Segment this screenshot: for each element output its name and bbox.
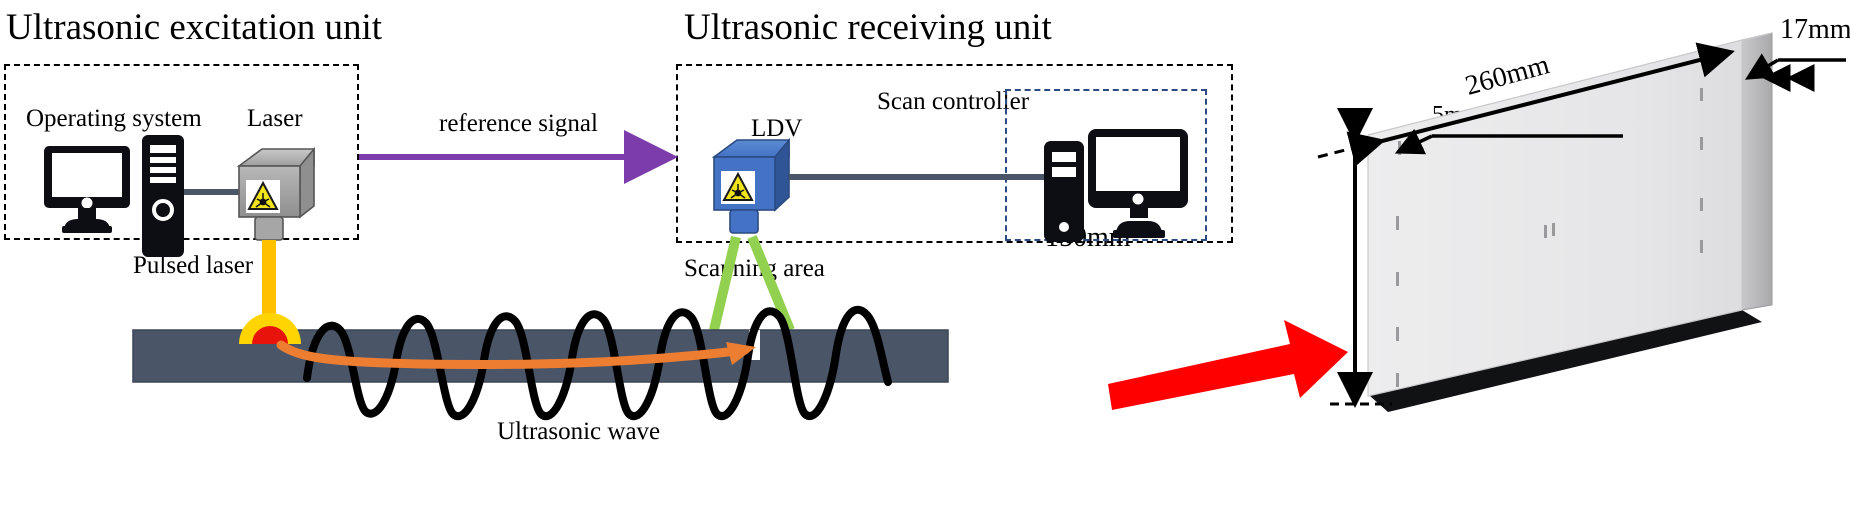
monitor-icon xyxy=(1088,129,1188,238)
ldv-head-icon xyxy=(714,140,789,233)
laser-hot-spot xyxy=(239,313,301,344)
zoom-callout-arrow xyxy=(1108,320,1348,410)
specimen-plate xyxy=(1318,33,1846,412)
computer-tower-icon xyxy=(1044,141,1084,242)
diagram-vector-layer xyxy=(0,0,1850,515)
computer-tower-icon xyxy=(142,135,184,257)
figure-root: Ultrasonic excitation unit Ultrasonic re… xyxy=(0,0,1850,515)
laser-head-icon xyxy=(239,149,314,240)
monitor-icon xyxy=(44,146,130,233)
